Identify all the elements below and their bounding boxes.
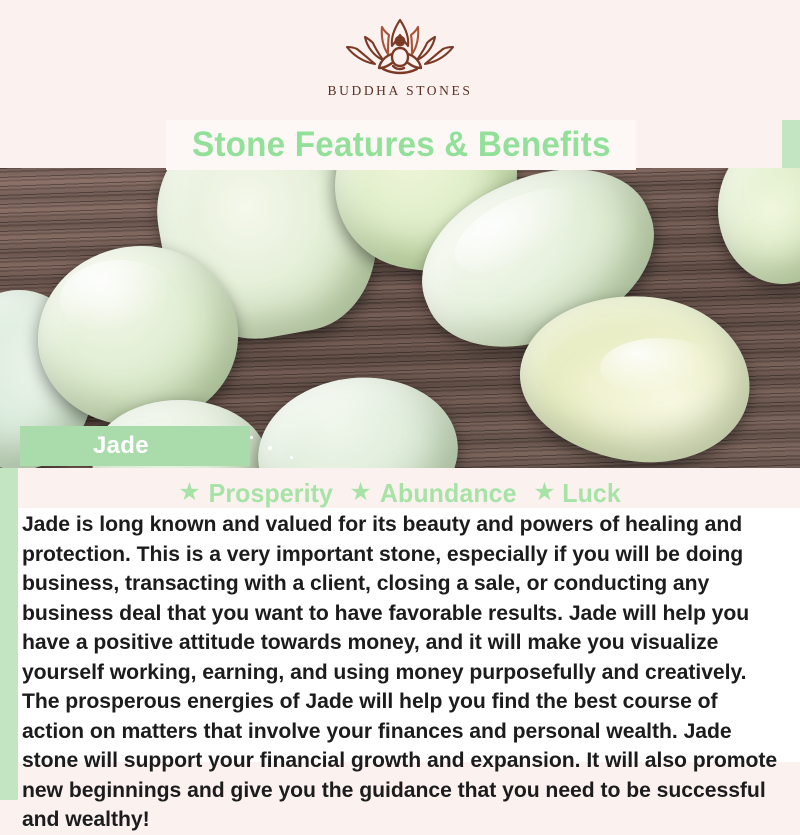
benefit-label: Prosperity [208,478,332,509]
page-title: Stone Features & Benefits [192,125,611,165]
section-title-band: Stone Features & Benefits [166,120,636,170]
star-icon: ★ [533,480,555,505]
benefits-row: ★ Prosperity ★ Abundance ★ Luck [0,476,800,510]
decorative-accent-left-lower [0,464,18,800]
stone-name-badge: Jade [20,426,250,466]
buddha-stones-lotus-logo-icon [325,14,475,80]
benefit-label: Abundance [380,478,517,509]
brand-name: BUDDHA STONES [328,83,473,99]
stone-sparkle [250,436,253,439]
jade-stone [38,246,238,426]
stone-name-label: Jade [93,432,149,460]
card-header: BUDDHA STONES [0,0,800,120]
stone-photo [0,168,800,468]
benefit-item-abundance: ★ Abundance [349,478,519,509]
stone-sparkle [290,456,293,459]
stone-info-card: BUDDHA STONES Stone Features & Benefits … [0,0,800,800]
stone-sparkle [268,446,272,450]
benefit-label: Luck [562,478,621,509]
star-icon: ★ [349,480,371,505]
description-panel: Jade is long known and valued for its be… [18,508,800,762]
star-icon: ★ [178,480,200,505]
benefit-item-luck: ★ Luck [533,478,622,509]
benefit-item-prosperity: ★ Prosperity [178,478,335,509]
description-text: Jade is long known and valued for its be… [18,508,788,835]
